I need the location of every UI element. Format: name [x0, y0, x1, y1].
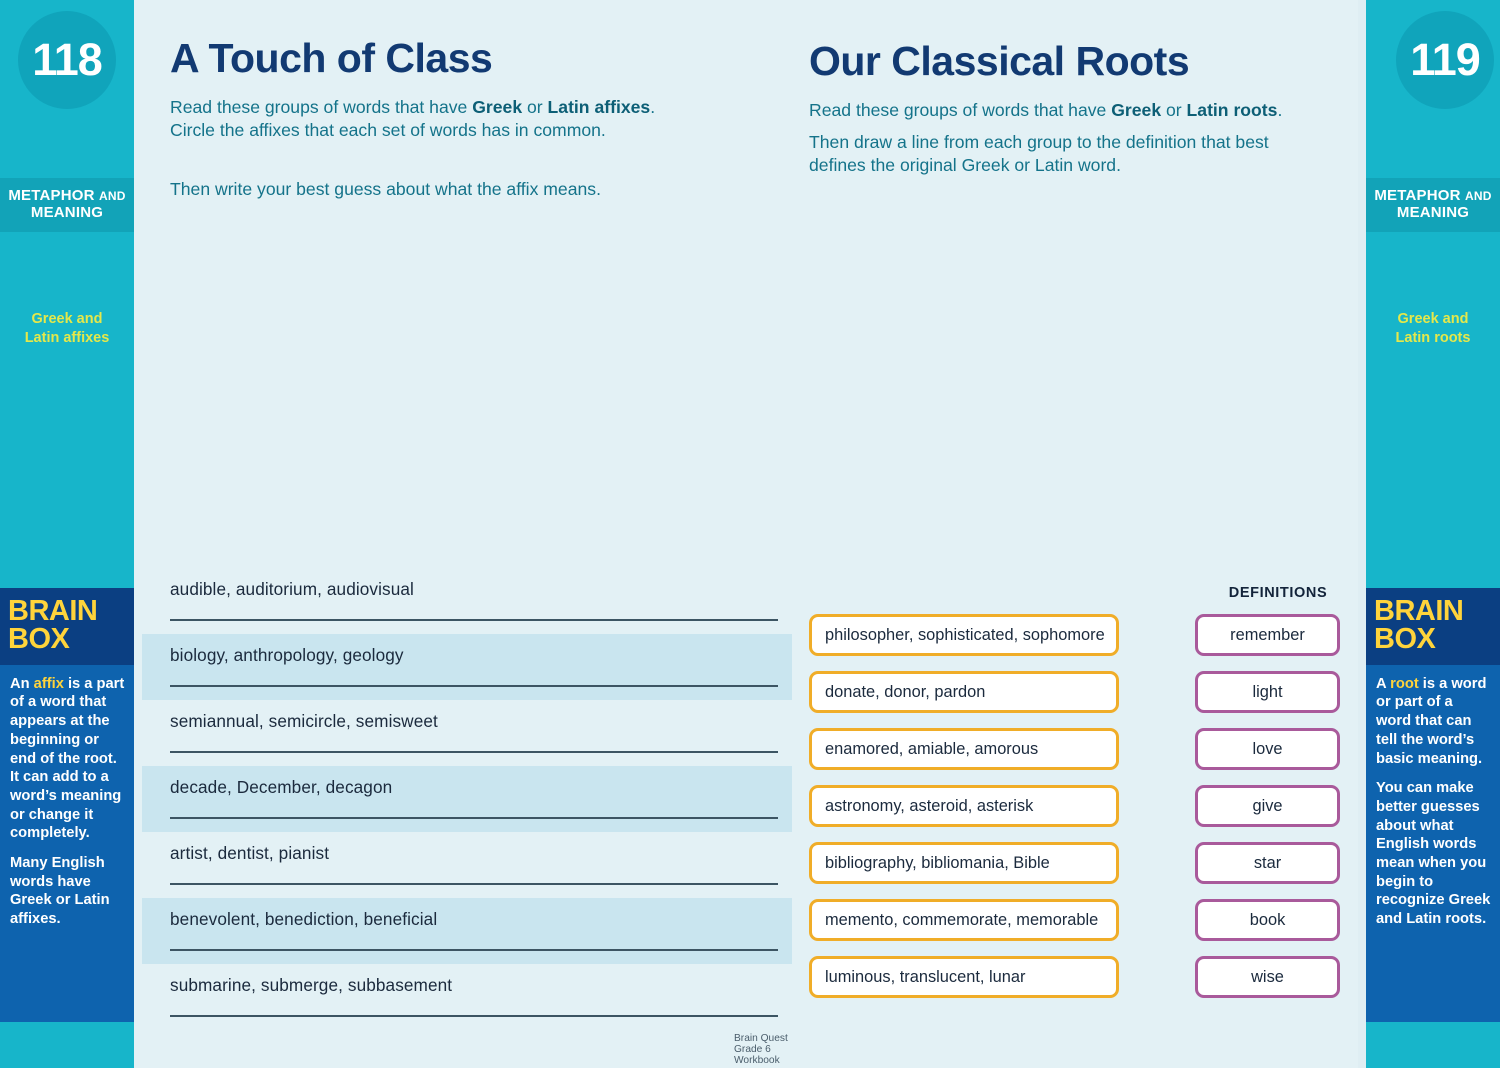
root-word-group-box[interactable]: bibliography, bibliomania, Bible — [809, 842, 1119, 884]
answer-write-line[interactable] — [170, 685, 778, 687]
answer-write-line[interactable] — [170, 1015, 778, 1017]
gutter-right — [1358, 0, 1366, 1068]
section-label-left-main: METAPHOR — [8, 187, 94, 204]
emphasis-text: Greek — [1111, 100, 1161, 120]
section-label-right-and: AND — [1465, 189, 1492, 203]
instruction-right-1: Read these groups of words that have Gre… — [809, 99, 1329, 122]
brain-box-right-body: A root is a word or part of a word that … — [1366, 665, 1500, 929]
brain-box-right: BRAIN BOX A root is a word or part of a … — [1366, 588, 1500, 1022]
brain-box-right-heading-1: BRAIN — [1374, 595, 1463, 627]
brain-box-right-para-1: A root is a word or part of a word that … — [1376, 675, 1491, 768]
root-word-group-box[interactable]: memento, commemorate, memorable — [809, 899, 1119, 941]
definition-box[interactable]: star — [1195, 842, 1340, 884]
definition-box[interactable]: wise — [1195, 956, 1340, 998]
plain-text: A — [1376, 676, 1390, 692]
root-word-group-box[interactable]: philosopher, sophisticated, sophomore — [809, 614, 1119, 656]
affix-word-row: audible, auditorium, audiovisual — [142, 568, 792, 634]
plain-text: Read these groups of words that have — [170, 97, 472, 117]
answer-write-line[interactable] — [170, 883, 778, 885]
root-word-group-box[interactable]: enamored, amiable, amorous — [809, 728, 1119, 770]
answer-write-line[interactable] — [170, 619, 778, 621]
topic-label-left: Greek andLatin affixes — [0, 310, 134, 348]
emphasis-text: Latin roots — [1187, 100, 1278, 120]
brain-box-right-para-2: You can make better guesses about what E… — [1376, 779, 1491, 928]
affix-word-group: submarine, submerge, subbasement — [170, 975, 452, 996]
affix-word-row: semiannual, semicircle, semisweet — [142, 700, 792, 766]
answer-write-line[interactable] — [170, 751, 778, 753]
plain-text: is a part of a word that appears at the … — [10, 676, 124, 841]
affix-word-group: decade, December, decagon — [170, 777, 392, 798]
definition-box[interactable]: book — [1195, 899, 1340, 941]
brain-box-left: BRAIN BOX An affix is a part of a word t… — [0, 588, 134, 1022]
left-page: A Touch of Class Read these groups of wo… — [142, 0, 792, 1068]
right-sidebar: 119 METAPHOR AND MEANING Greek andLatin … — [1366, 0, 1500, 1068]
workbook-spread: 118 METAPHOR AND MEANING Greek andLatin … — [0, 0, 1500, 1068]
emphasis-text: affix — [34, 676, 64, 692]
emphasis-text: root — [1390, 676, 1419, 692]
gutter-left — [134, 0, 142, 1068]
brain-box-right-heading: BRAIN BOX — [1366, 588, 1500, 665]
footer-left: Brain Quest Grade 6 Workbook — [734, 1033, 792, 1066]
root-word-groups: philosopher, sophisticated, sophomoredon… — [809, 614, 1119, 1013]
brain-box-left-heading-1: BRAIN — [8, 595, 97, 627]
root-word-group-box[interactable]: luminous, translucent, lunar — [809, 956, 1119, 998]
root-word-group-box[interactable]: donate, donor, pardon — [809, 671, 1119, 713]
emphasis-text: Latin affixes — [548, 97, 651, 117]
plain-text: An — [10, 676, 34, 692]
affix-word-group: benevolent, benediction, beneficial — [170, 909, 437, 930]
section-label-right-main: METAPHOR — [1374, 187, 1460, 204]
plain-text: or — [522, 97, 547, 117]
affix-word-row: artist, dentist, pianist — [142, 832, 792, 898]
instruction-left-1: Read these groups of words that have Gre… — [170, 96, 670, 143]
section-label-left: METAPHOR AND MEANING — [0, 178, 134, 232]
definition-box[interactable]: remember — [1195, 614, 1340, 656]
topic-label-right: Greek andLatin roots — [1366, 310, 1500, 348]
topic-line: Latin affixes — [25, 330, 110, 346]
instruction-right-2: Then draw a line from each group to the … — [809, 131, 1314, 178]
affix-word-group: biology, anthropology, geology — [170, 645, 404, 666]
affix-word-row: benevolent, benediction, beneficial — [142, 898, 792, 964]
topic-line: Latin roots — [1396, 330, 1471, 346]
affix-word-list: audible, auditorium, audiovisualbiology,… — [142, 568, 792, 1030]
page-number-right: 119 — [1396, 11, 1494, 109]
definitions-column-label: DEFINITIONS — [1203, 585, 1353, 601]
affix-word-row: biology, anthropology, geology — [142, 634, 792, 700]
affix-word-row: decade, December, decagon — [142, 766, 792, 832]
section-label-left-second: MEANING — [31, 204, 103, 221]
section-label-left-and: AND — [99, 189, 126, 203]
affix-word-row: submarine, submerge, subbasement — [142, 964, 792, 1030]
definition-box[interactable]: light — [1195, 671, 1340, 713]
definition-box[interactable]: love — [1195, 728, 1340, 770]
page-title-right: Our Classical Roots — [809, 38, 1189, 85]
brain-box-right-heading-2: BOX — [1374, 623, 1435, 655]
page-number-left: 118 — [18, 11, 116, 109]
answer-write-line[interactable] — [170, 817, 778, 819]
root-word-group-box[interactable]: astronomy, asteroid, asterisk — [809, 785, 1119, 827]
definition-box[interactable]: give — [1195, 785, 1340, 827]
left-sidebar: 118 METAPHOR AND MEANING Greek andLatin … — [0, 0, 134, 1068]
topic-line: Greek and — [32, 311, 103, 327]
right-page: Our Classical Roots Read these groups of… — [792, 0, 1358, 1068]
page-title-left: A Touch of Class — [170, 35, 492, 82]
affix-word-group: audible, auditorium, audiovisual — [170, 579, 414, 600]
brain-box-left-heading-2: BOX — [8, 623, 69, 655]
definition-boxes: rememberlightlovegivestarbookwise — [1195, 614, 1340, 1013]
plain-text: or — [1161, 100, 1186, 120]
answer-write-line[interactable] — [170, 949, 778, 951]
brain-box-left-body: An affix is a part of a word that appear… — [0, 665, 134, 929]
emphasis-text: Greek — [472, 97, 522, 117]
topic-line: Greek and — [1398, 311, 1469, 327]
plain-text: . — [1277, 100, 1282, 120]
brain-box-left-heading: BRAIN BOX — [0, 588, 134, 665]
section-label-right-second: MEANING — [1397, 204, 1469, 221]
brain-box-left-para-1: An affix is a part of a word that appear… — [10, 675, 125, 843]
plain-text: Read these groups of words that have — [809, 100, 1111, 120]
section-label-right: METAPHOR AND MEANING — [1366, 178, 1500, 232]
brain-box-left-para-2: Many English words have Greek or Latin a… — [10, 854, 125, 929]
affix-word-group: artist, dentist, pianist — [170, 843, 329, 864]
instruction-left-2: Then write your best guess about what th… — [170, 178, 690, 201]
affix-word-group: semiannual, semicircle, semisweet — [170, 711, 438, 732]
